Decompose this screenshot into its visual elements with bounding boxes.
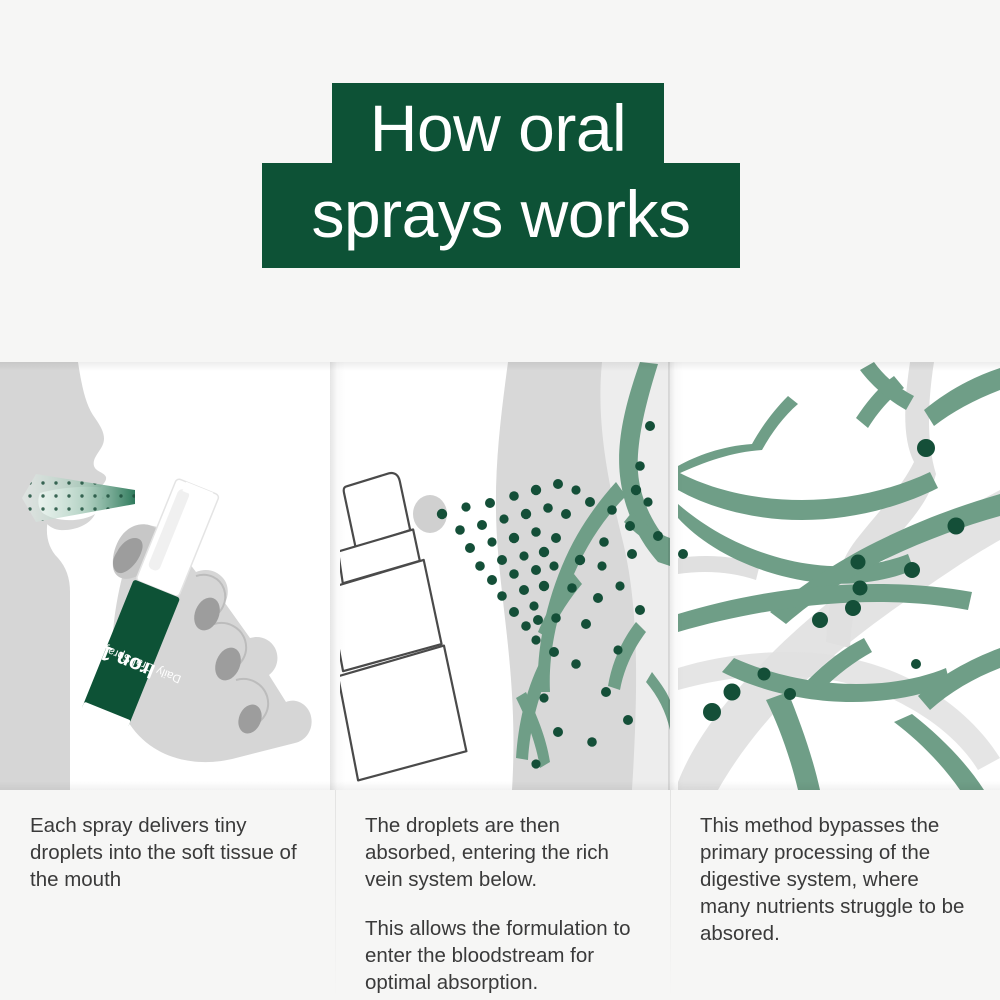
- panel-3-illustration: [678, 362, 1000, 790]
- title-line-2: sprays works: [262, 163, 740, 268]
- panel-spray-into-mouth: Iron 10 Daily Oral Spray: [0, 362, 332, 790]
- infographic-root: How oral sprays works: [0, 0, 1000, 1000]
- caption-row: Each spray delivers tiny droplets into t…: [0, 790, 1000, 1000]
- illustration-strip: Iron 10 Daily Oral Spray: [0, 362, 1000, 790]
- caption-2-paragraph-1: The droplets are then absorbed, entering…: [365, 812, 640, 893]
- panel-droplets-absorbed: [340, 362, 670, 790]
- caption-divider-2: [670, 790, 671, 1000]
- title-line-1: How oral: [332, 83, 664, 163]
- caption-panel-1: Each spray delivers tiny droplets into t…: [0, 790, 335, 1000]
- caption-divider-1: [335, 790, 336, 1000]
- panel-1-illustration: Iron 10 Daily Oral Spray: [0, 362, 332, 790]
- panel-gutter-2: [668, 362, 684, 790]
- caption-2-paragraph-2: This allows the formulation to enter the…: [365, 915, 640, 996]
- caption-1-paragraph-1: Each spray delivers tiny droplets into t…: [30, 812, 305, 893]
- caption-panel-3: This method bypasses the primary process…: [670, 790, 1000, 1000]
- caption-panel-2: The droplets are then absorbed, entering…: [335, 790, 670, 1000]
- panel-vein-network: [678, 362, 1000, 790]
- panel-2-illustration: [340, 362, 670, 790]
- title-area: How oral sprays works: [0, 0, 1000, 362]
- spray-bottle-outline: [340, 470, 468, 781]
- head-silhouette-icon: [0, 362, 106, 790]
- panel-gutter-1: [330, 362, 346, 790]
- caption-3-paragraph-1: This method bypasses the primary process…: [700, 812, 970, 947]
